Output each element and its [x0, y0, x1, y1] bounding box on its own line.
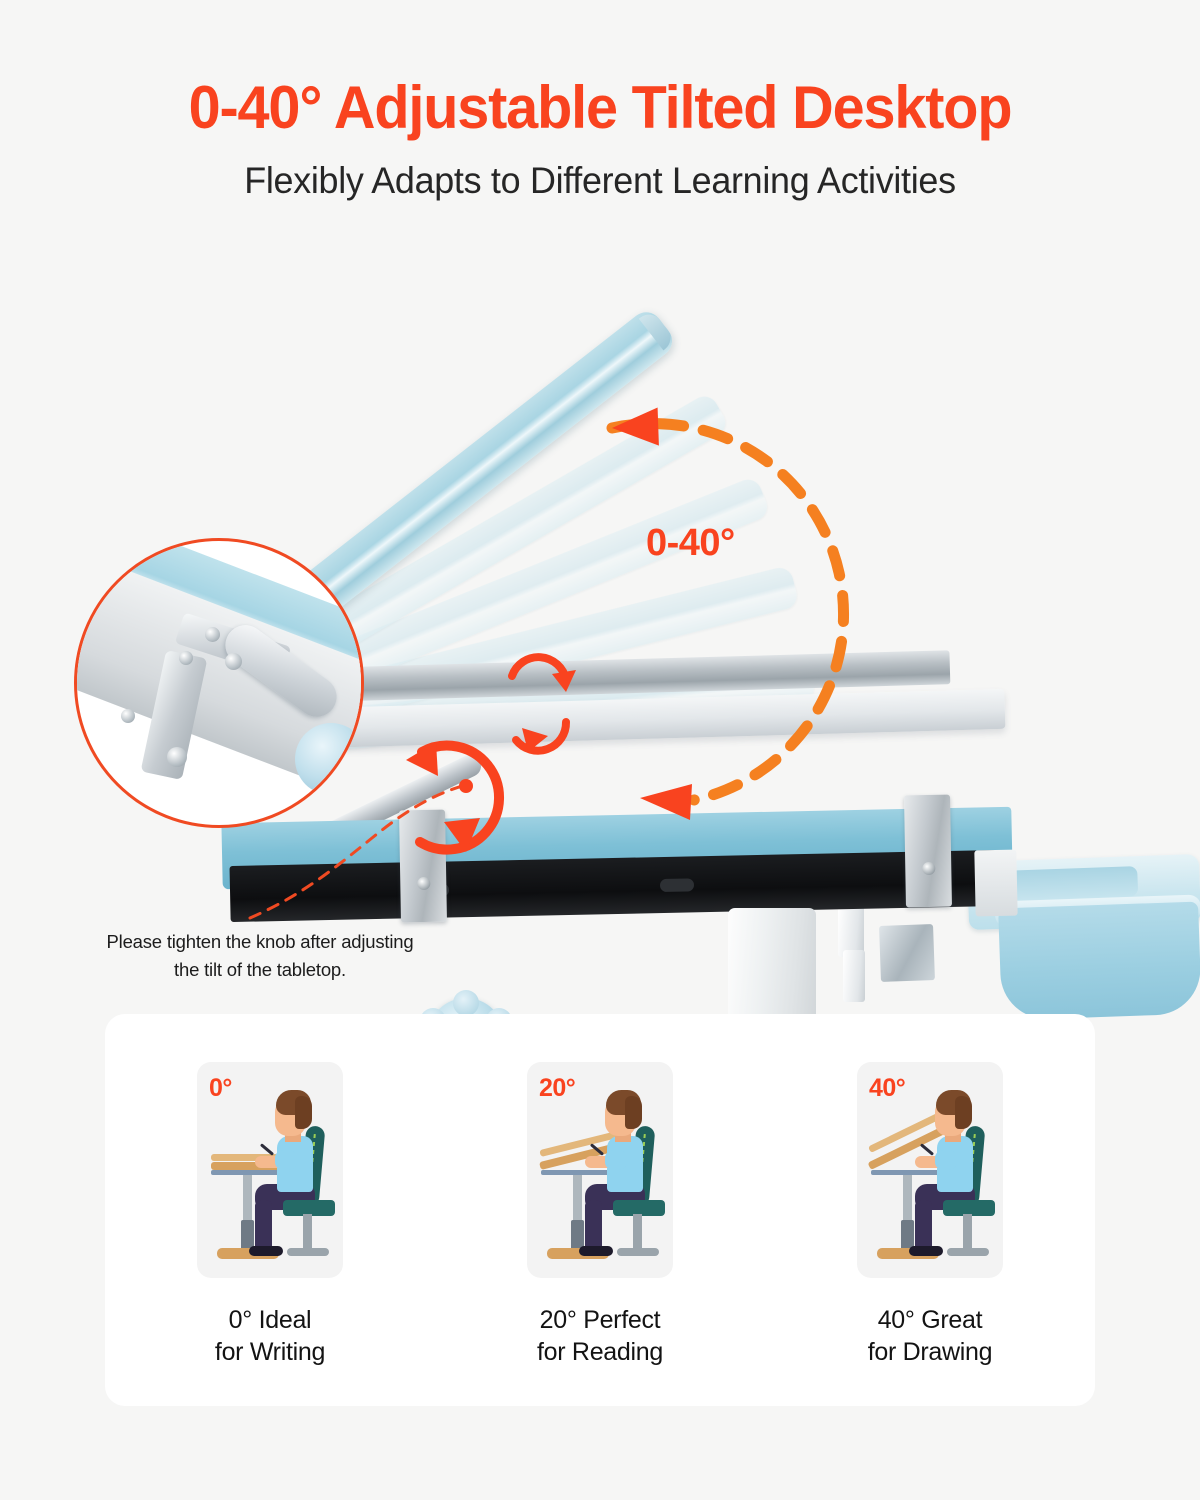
angle-range-label: 0-40° — [646, 522, 735, 565]
angle-badge-20: 20° — [539, 1074, 575, 1103]
angle-badge-40: 40° — [869, 1074, 905, 1103]
usage-caption-drawing-line1: 40° Great — [868, 1304, 993, 1336]
chair-base — [947, 1248, 989, 1256]
chair-post — [633, 1214, 642, 1250]
boy-shoe — [909, 1246, 943, 1256]
chair-base — [617, 1248, 659, 1256]
angle-badge-0: 0° — [209, 1074, 232, 1103]
boy-sleeve — [935, 1150, 957, 1170]
usage-caption-writing: 0° Ideal for Writing — [215, 1304, 325, 1368]
usage-caption-writing-line2: for Writing — [215, 1336, 325, 1368]
page-title: 0-40° Adjustable Tilted Desktop — [24, 78, 1176, 138]
inset-screw-3 — [225, 653, 242, 670]
hero-product-photo: 53 — [0, 250, 1200, 1010]
boy-hair-back — [295, 1096, 312, 1129]
chair-base — [287, 1248, 329, 1256]
inset-tilt-knob — [295, 723, 364, 795]
boy-shin — [585, 1200, 602, 1252]
inset-screw-1 — [205, 627, 220, 642]
hinge-closeup-inset — [74, 538, 364, 828]
usage-caption-drawing-line2: for Drawing — [868, 1336, 993, 1368]
metal-bracket-right — [904, 795, 952, 908]
boy-hair-back — [625, 1096, 642, 1129]
inset-screw-4 — [167, 747, 187, 767]
boy-shin — [255, 1200, 272, 1252]
note-line-1: Please tighten the knob after adjusting — [107, 931, 414, 952]
usage-caption-reading-line2: for Reading — [537, 1336, 663, 1368]
boy-shoe — [579, 1246, 613, 1256]
metal-clamp — [879, 924, 935, 982]
inset-screw-5 — [121, 709, 135, 723]
note-line-2: the tilt of the tabletop. — [60, 956, 460, 984]
boy-shin — [915, 1200, 932, 1252]
bookstand-caddy-body — [998, 902, 1200, 1021]
metal-bracket-left — [399, 810, 447, 923]
inset-screw-2 — [179, 651, 193, 665]
white-post-b — [843, 950, 865, 1002]
knob-lobe-5 — [453, 990, 479, 1016]
boy-shoe — [249, 1246, 283, 1256]
usage-tile-drawing[interactable]: 40° — [765, 1014, 1095, 1406]
usage-thumbnail-writing: 0° — [197, 1062, 343, 1278]
boy-sleeve — [605, 1150, 627, 1170]
desk-leg-upper — [243, 1175, 252, 1223]
chair-post — [963, 1214, 972, 1250]
usage-caption-drawing: 40° Great for Drawing — [868, 1304, 993, 1368]
usage-tiles: 0° — [105, 1014, 1095, 1406]
chair-post — [303, 1214, 312, 1250]
usage-scenarios-card: 0° — [105, 1014, 1095, 1406]
usage-tile-writing[interactable]: 0° — [105, 1014, 435, 1406]
page-subtitle: Flexibly Adapts to Different Learning Ac… — [18, 160, 1182, 202]
desk-leg-upper — [573, 1175, 582, 1223]
usage-caption-writing-line1: 0° Ideal — [215, 1304, 325, 1336]
usage-thumbnail-reading: 20° — [527, 1062, 673, 1278]
usage-caption-reading-line1: 20° Perfect — [537, 1304, 663, 1336]
pencil-icon — [920, 1143, 934, 1156]
desk-leg-upper — [903, 1175, 912, 1223]
usage-caption-reading: 20° Perfect for Reading — [537, 1304, 663, 1368]
boy-hair-back — [955, 1096, 972, 1129]
boy-sleeve — [275, 1150, 297, 1170]
header: 0-40° Adjustable Tilted Desktop Flexibly… — [0, 78, 1200, 202]
usage-thumbnail-drawing: 40° — [857, 1062, 1003, 1278]
infographic-page: 0-40° Adjustable Tilted Desktop Flexibly… — [0, 0, 1200, 1500]
drawer-end-cap — [974, 850, 1017, 917]
tighten-knob-note: Please tighten the knob after adjusting … — [60, 928, 460, 984]
usage-tile-reading[interactable]: 20° — [435, 1014, 765, 1406]
